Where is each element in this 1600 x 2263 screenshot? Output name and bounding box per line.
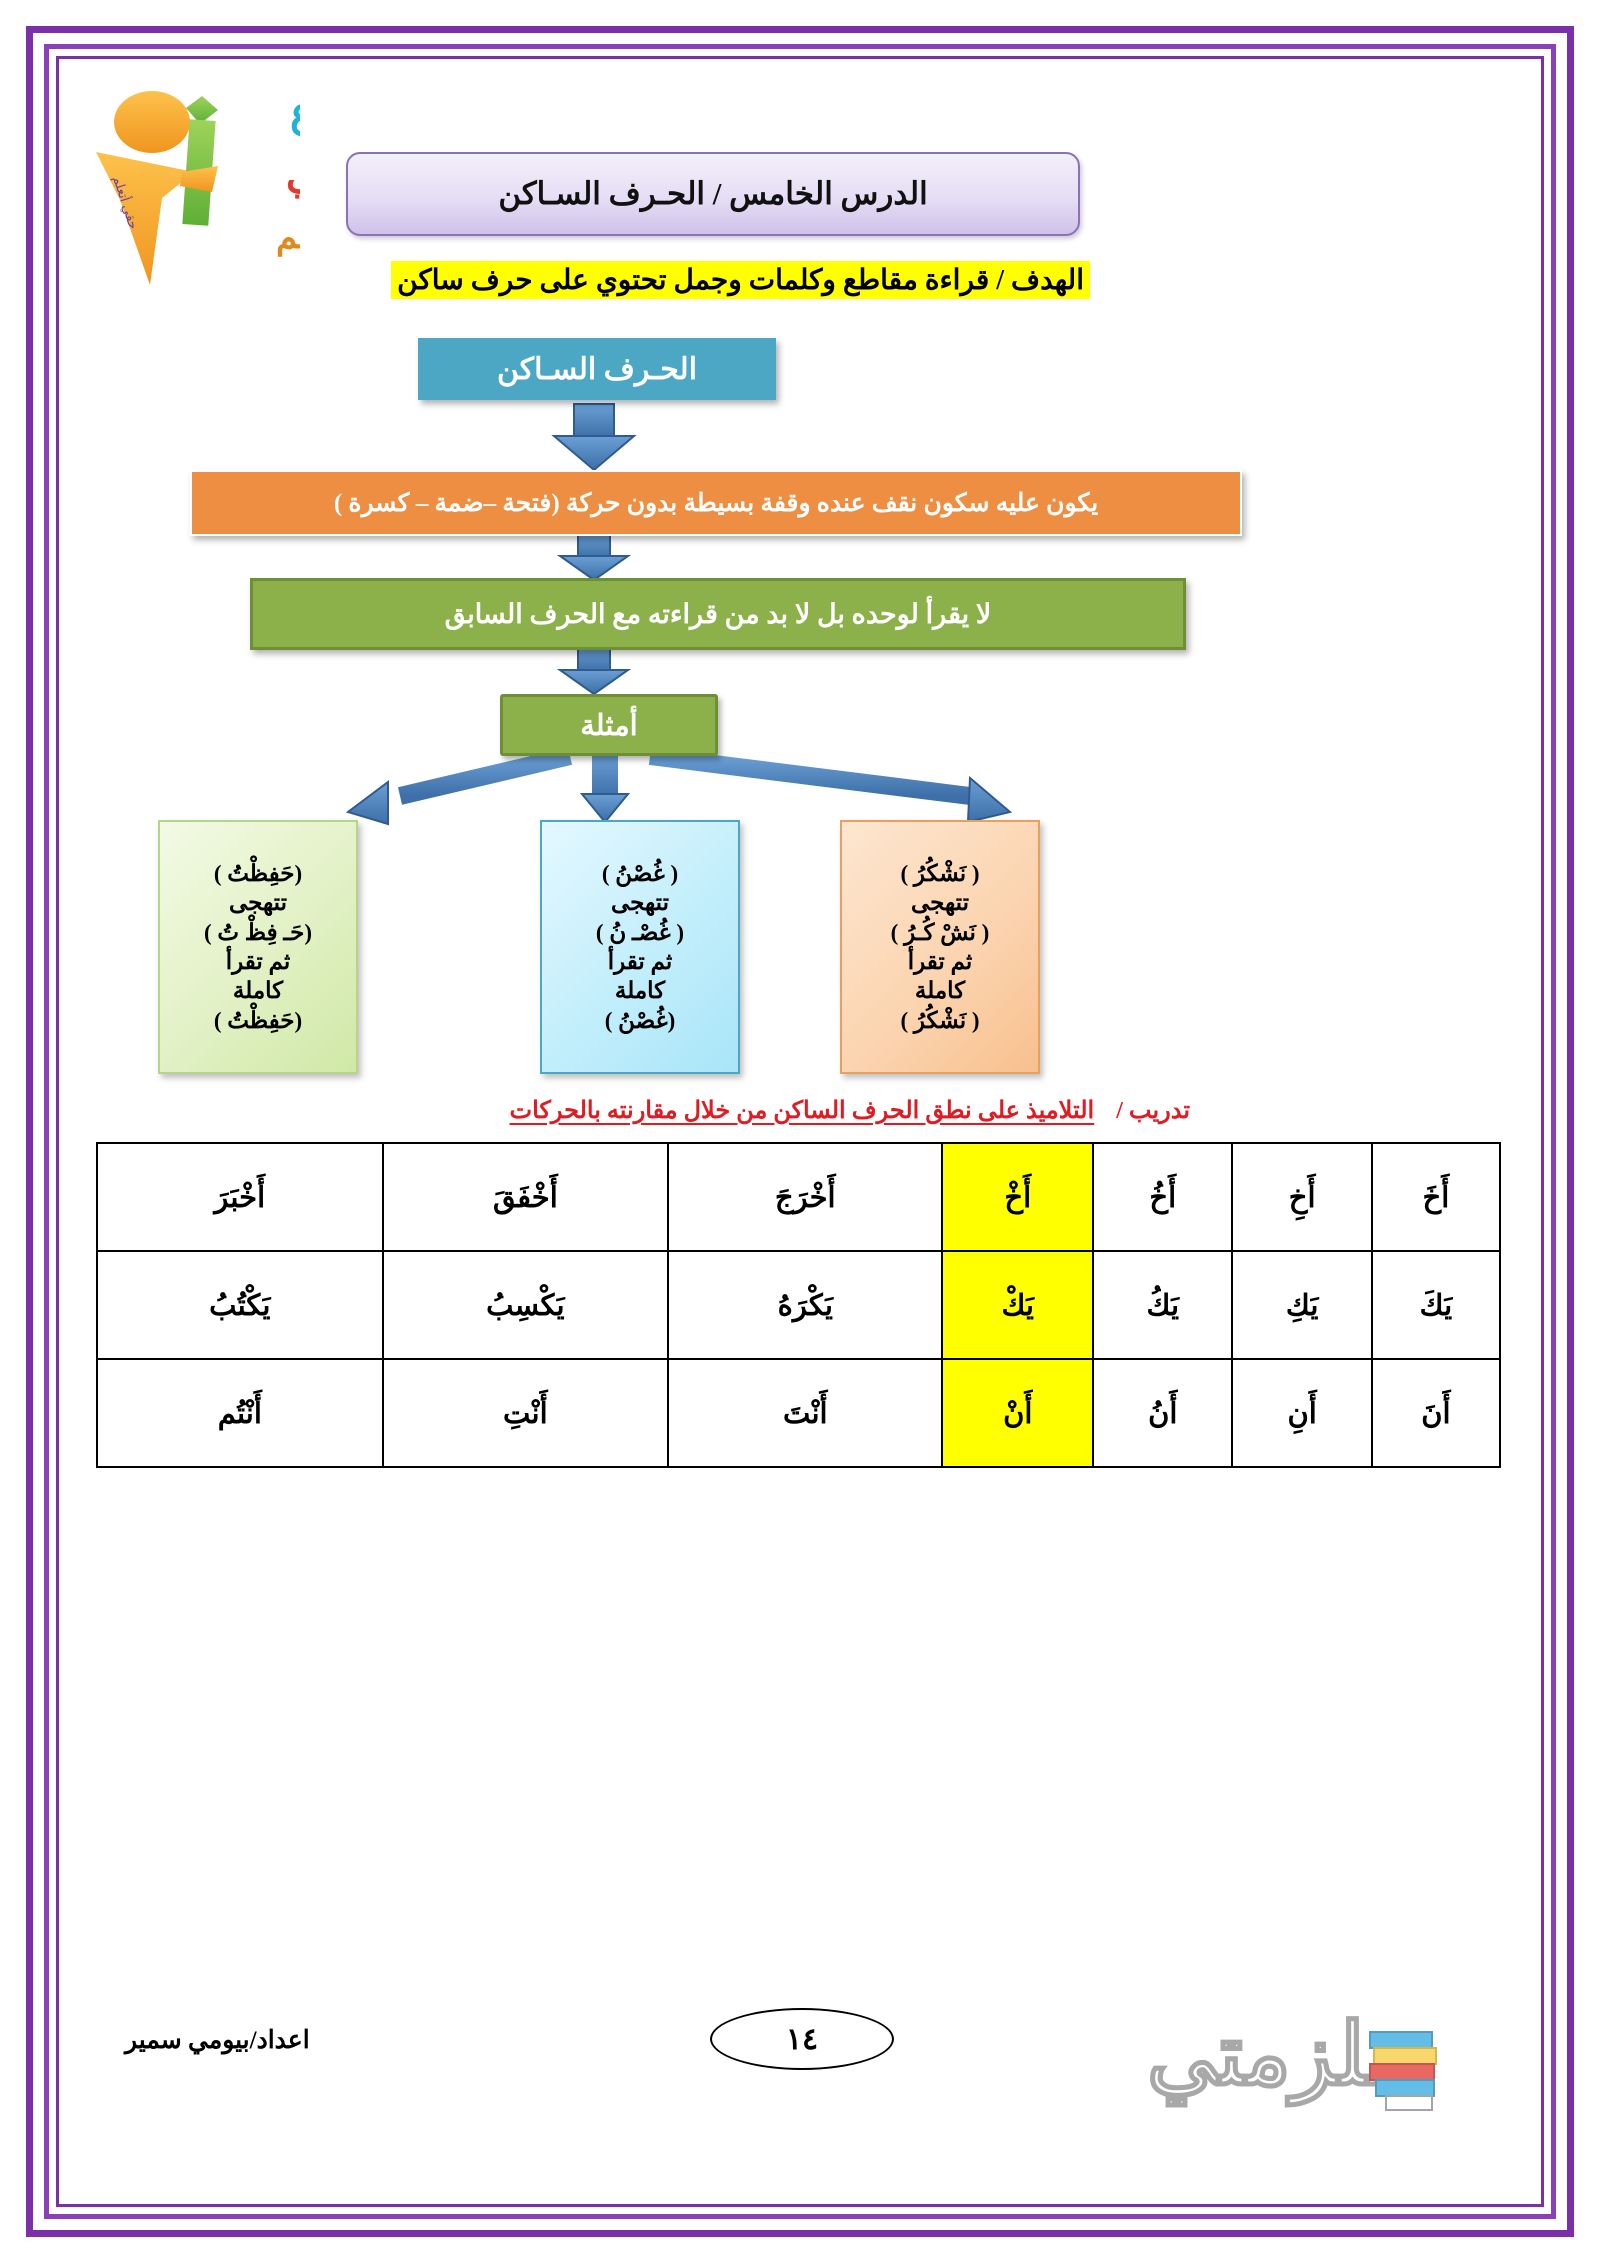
example-line: ثم تقرأ: [608, 947, 673, 976]
flow-arrows: [70, 70, 1530, 2193]
lesson-title-text: الدرس الخامس / الحـرف السـاكن: [498, 176, 927, 212]
example-line: (حَفِظْتُ ): [214, 859, 302, 888]
table-cell[interactable]: يَكْتُبُ: [97, 1251, 383, 1359]
table-cell[interactable]: أَنْتُم: [97, 1359, 383, 1467]
author-credit: اعداد/بيومي سمير: [125, 2025, 310, 2055]
examples-label-box: أمثلة: [500, 694, 718, 756]
example-line: كاملة: [915, 976, 965, 1005]
table-cell[interactable]: أَخُ: [1093, 1143, 1232, 1251]
table-cell-highlighted[interactable]: أَنْ: [942, 1359, 1093, 1467]
logo-word-ataallam: أتعلم: [276, 214, 300, 257]
table-cell[interactable]: أَخْفَقَ: [383, 1143, 669, 1251]
example-line: ثم تقرأ: [908, 947, 973, 976]
definition-text: يكون عليه سكون نقف عنده وقفة بسيطة بدون …: [334, 488, 1098, 518]
topic-text: الحـرف السـاكن: [497, 352, 697, 387]
arrow-rule-to-examples: [560, 646, 628, 694]
objective-text: الهدف / قراءة مقاطع وكلمات وجمل تحتوي عل…: [391, 261, 1090, 299]
example-line: ( نَشْكُرُ ): [900, 1006, 979, 1035]
page-number-badge: ١٤: [710, 2008, 894, 2070]
example-box-green: (حَفِظْتُ ) تتهجى (حَـ فِظْ تُ ) ثم تقرأ…: [158, 820, 358, 1074]
worksheet-page: مشروع حقي أتعلم حقي أتعلم الدرس الخامس /…: [70, 70, 1530, 2193]
logo-head: [114, 91, 190, 153]
objective-row: الهدف / قراءة مقاطع وكلمات وجمل تحتوي عل…: [260, 255, 1090, 305]
logo-body: [96, 152, 194, 285]
examples-label-text: أمثلة: [580, 708, 638, 743]
watermark-word: ملزمتي: [1147, 2007, 1413, 2107]
table-cell[interactable]: أَنِ: [1232, 1359, 1371, 1467]
example-line: ( نَشْكُرُ ): [900, 859, 979, 888]
table-cell[interactable]: يَكِ: [1232, 1251, 1371, 1359]
table-cell[interactable]: يَكْرَهُ: [668, 1251, 942, 1359]
arrow-examples-to-blue: [582, 754, 628, 822]
table-cell-highlighted[interactable]: يَكْ: [942, 1251, 1093, 1359]
arrow-examples-to-orange: [650, 756, 1010, 822]
site-watermark: ملزمتي: [1030, 1988, 1470, 2138]
example-line: تتهجى: [229, 888, 287, 917]
example-line: (حَـ فِظْ تُ ): [204, 918, 312, 947]
table-cell[interactable]: يَكَ: [1372, 1251, 1500, 1359]
table-row: أَنَ أَنِ أَنُ أَنْ أَنْتَ أَنْتِ أَنْتُ…: [97, 1359, 1500, 1467]
table-cell[interactable]: يَكْسِبُ: [383, 1251, 669, 1359]
example-line: ( نَشْ كُـرُ ): [891, 918, 990, 947]
table-cell[interactable]: أَنَ: [1372, 1359, 1500, 1467]
training-row: تدريب / التلاميذ على نطق الحرف الساكن من…: [310, 1092, 1190, 1128]
table-cell[interactable]: أَخِ: [1232, 1143, 1371, 1251]
definition-box: يكون عليه سكون نقف عنده وقفة بسيطة بدون …: [190, 470, 1242, 536]
drill-table: أَخَ أَخِ أَخُ أَخْ أَخْرَجَ أَخْفَقَ أَ…: [96, 1142, 1501, 1468]
table-cell[interactable]: أَنْتَ: [668, 1359, 942, 1467]
example-line: (غُصْنُ ): [605, 1006, 676, 1035]
rule-box: لا يقرأ لوحده بل لا بد من قراءته مع الحر…: [250, 578, 1186, 650]
example-line: ( غُصْـ نُ ): [596, 918, 684, 947]
page-number-text: ١٤: [786, 2022, 818, 2057]
table-row: أَخَ أَخِ أَخُ أَخْ أَخْرَجَ أَخْفَقَ أَ…: [97, 1143, 1500, 1251]
training-text: التلاميذ على نطق الحرف الساكن من خلال مق…: [510, 1096, 1095, 1125]
arrow-topic-to-definition: [554, 404, 634, 470]
example-line: تتهجى: [911, 888, 969, 917]
example-box-blue: ( غُصْنُ ) تتهجى ( غُصْـ نُ ) ثم تقرأ كا…: [540, 820, 740, 1074]
example-line: (حَفِظْتُ ): [214, 1006, 302, 1035]
arrow-definition-to-rule: [560, 534, 628, 580]
table-row: يَكَ يَكِ يَكُ يَكْ يَكْرَهُ يَكْسِبُ يَ…: [97, 1251, 1500, 1359]
table-cell[interactable]: أَنْتِ: [383, 1359, 669, 1467]
table-cell[interactable]: أَنُ: [1093, 1359, 1232, 1467]
example-line: كاملة: [233, 976, 283, 1005]
training-label: تدريب /: [1116, 1096, 1190, 1125]
table-cell-highlighted[interactable]: أَخْ: [942, 1143, 1093, 1251]
example-line: ثم تقرأ: [226, 947, 291, 976]
example-line: كاملة: [615, 976, 665, 1005]
lesson-title-box: الدرس الخامس / الحـرف السـاكن: [346, 152, 1080, 236]
example-box-orange: ( نَشْكُرُ ) تتهجى ( نَشْ كُـرُ ) ثم تقر…: [840, 820, 1040, 1074]
topic-box: الحـرف السـاكن: [418, 338, 776, 400]
table-cell[interactable]: أَخْبَرَ: [97, 1143, 383, 1251]
logo-word-mashroo: مشروع: [290, 90, 300, 137]
logo-word-haqqi: حقي: [286, 152, 300, 199]
table-cell[interactable]: يَكُ: [1093, 1251, 1232, 1359]
table-cell[interactable]: أَخْرَجَ: [668, 1143, 942, 1251]
arrow-examples-to-green: [348, 756, 570, 824]
example-line: ( غُصْنُ ): [602, 859, 678, 888]
example-line: تتهجى: [611, 888, 669, 917]
rule-text: لا يقرأ لوحده بل لا بد من قراءته مع الحر…: [445, 599, 992, 630]
table-cell[interactable]: أَخَ: [1372, 1143, 1500, 1251]
